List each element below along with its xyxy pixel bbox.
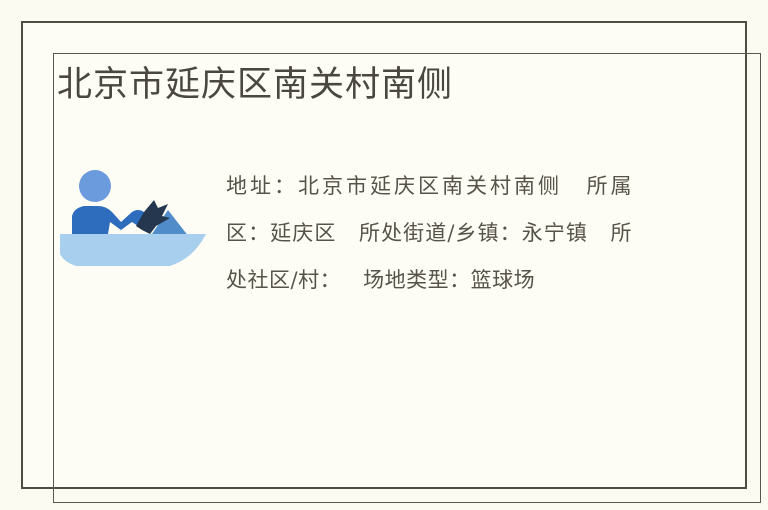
address-label: 地址： bbox=[226, 174, 298, 198]
street-value: 永宁镇 bbox=[522, 221, 588, 245]
venue-type-label: 场地类型： bbox=[363, 268, 471, 292]
venue-type-value: 篮球场 bbox=[471, 268, 536, 292]
venue-info-card: 北京市延庆区南关村南侧 地址：北京市延庆区南关村南侧所属区：延庆区所处街道/乡镇… bbox=[0, 0, 768, 510]
address-value: 北京市延庆区南关村南侧 bbox=[298, 174, 562, 198]
page-title: 北京市延庆区南关村南侧 bbox=[57, 62, 453, 108]
illustration-head-icon bbox=[79, 170, 111, 202]
venue-details-text: 地址：北京市延庆区南关村南侧所属区：延庆区所处街道/乡镇：永宁镇所处社区/村：场… bbox=[226, 163, 632, 304]
person-with-bird-illustration bbox=[58, 166, 208, 270]
district-value: 延庆区 bbox=[270, 221, 336, 245]
illustration-base-wave-icon bbox=[60, 234, 206, 266]
street-label: 所处街道/乡镇： bbox=[358, 221, 521, 245]
illustration-svg bbox=[58, 166, 208, 270]
